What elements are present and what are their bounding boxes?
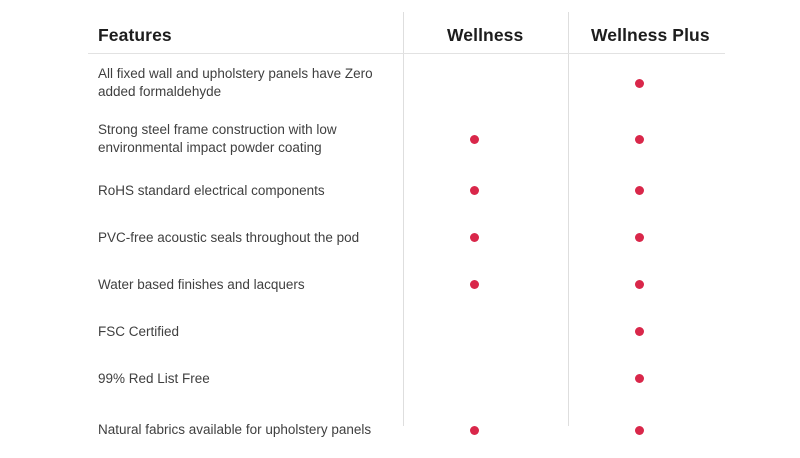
cell-wellness [441,214,507,261]
table-row: 99% Red List Free [88,355,725,402]
table-row: RoHS standard electrical components [88,167,725,214]
feature-label: Natural fabrics available for upholstery… [88,421,403,439]
table-row: PVC-free acoustic seals throughout the p… [88,214,725,261]
feature-label: RoHS standard electrical components [88,182,403,200]
filled-dot-icon [470,426,479,435]
filled-dot-icon [635,374,644,383]
filled-dot-icon [635,233,644,242]
cell-wellness-plus [606,111,672,167]
feature-label: PVC-free acoustic seals throughout the p… [88,229,403,247]
cell-wellness-plus [606,167,672,214]
cell-wellness-plus [606,402,672,458]
cell-wellness [441,55,507,111]
filled-dot-icon [470,135,479,144]
cell-wellness [441,355,507,402]
column-header-wellness: Wellness [447,25,523,46]
column-header-features: Features [98,25,172,46]
table-row: Strong steel frame construction with low… [88,111,725,167]
feature-label: Strong steel frame construction with low… [88,121,403,157]
table-row: FSC Certified [88,308,725,355]
table-row: All fixed wall and upholstery panels hav… [88,55,725,111]
cell-wellness [441,111,507,167]
table-header-row: Features Wellness Wellness Plus [88,12,725,54]
cell-wellness-plus [606,355,672,402]
filled-dot-icon [470,186,479,195]
feature-label: Water based finishes and lacquers [88,276,403,294]
table-row: Natural fabrics available for upholstery… [88,402,725,458]
column-header-wellness-plus: Wellness Plus [591,25,710,46]
filled-dot-icon [470,280,479,289]
feature-label: 99% Red List Free [88,370,403,388]
cell-wellness-plus [606,55,672,111]
filled-dot-icon [635,280,644,289]
feature-label: All fixed wall and upholstery panels hav… [88,65,403,101]
cell-wellness [441,402,507,458]
filled-dot-icon [635,426,644,435]
filled-dot-icon [470,233,479,242]
cell-wellness [441,308,507,355]
feature-comparison-table: Features Wellness Wellness Plus All fixe… [0,0,800,442]
filled-dot-icon [635,135,644,144]
table-body: All fixed wall and upholstery panels hav… [88,55,725,458]
cell-wellness-plus [606,261,672,308]
filled-dot-icon [635,186,644,195]
feature-label: FSC Certified [88,323,403,341]
cell-wellness [441,261,507,308]
table-row: Water based finishes and lacquers [88,261,725,308]
filled-dot-icon [635,327,644,336]
cell-wellness-plus [606,214,672,261]
cell-wellness [441,167,507,214]
cell-wellness-plus [606,308,672,355]
filled-dot-icon [635,79,644,88]
